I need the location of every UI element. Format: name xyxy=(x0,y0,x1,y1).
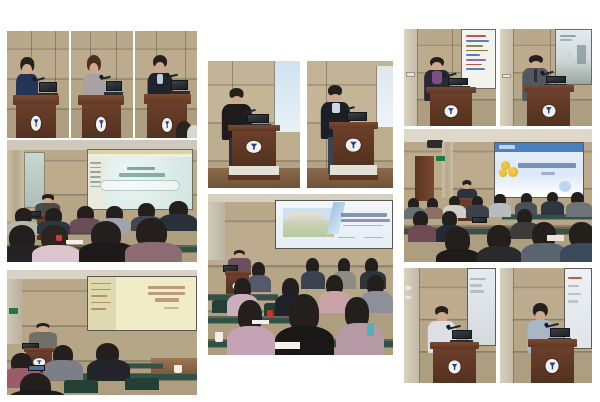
lectern xyxy=(528,339,578,383)
paper-cup xyxy=(215,332,222,342)
slide-presenter-line xyxy=(364,237,383,239)
photo-speaker-man-light-shirt[interactable] xyxy=(404,268,496,383)
side-wall xyxy=(500,268,513,383)
wall-panel xyxy=(405,286,411,289)
outline-line xyxy=(91,302,110,304)
wall-seam xyxy=(513,268,514,383)
slide-text-line xyxy=(560,39,573,41)
scarf xyxy=(432,71,442,85)
slide-yellow xyxy=(88,277,196,330)
audience-shoulders xyxy=(43,360,83,380)
sidebar-line xyxy=(90,176,101,178)
slide-text-line xyxy=(470,290,484,292)
photo-audience-hall-blue-slide[interactable] xyxy=(404,129,592,262)
lectern xyxy=(228,125,280,181)
projection-screen xyxy=(274,61,300,132)
slide-title-line xyxy=(148,292,185,295)
laptop-screen xyxy=(28,365,45,371)
drink-bottle xyxy=(56,235,62,241)
audience-shoulders-front xyxy=(436,249,481,262)
shirt-collar xyxy=(157,74,163,84)
page-search-pill xyxy=(100,180,179,191)
audience-shoulders-front xyxy=(275,326,334,355)
outline-line xyxy=(91,295,107,297)
slide-subtitle-line xyxy=(541,172,555,175)
audience-shoulders xyxy=(408,225,436,242)
photo-speaker-woman-dark-coat[interactable] xyxy=(7,31,69,138)
wall-seam xyxy=(419,268,420,383)
photo-speaker-man-collared-shirt-tall[interactable] xyxy=(307,61,393,188)
exit-sign xyxy=(436,156,445,161)
photo-speaker-man-grey-suit[interactable] xyxy=(500,29,592,126)
laptop xyxy=(39,82,56,96)
audience-shoulders xyxy=(489,203,512,216)
outline-line xyxy=(91,283,110,285)
wall-panel xyxy=(405,296,411,299)
yellow-circle xyxy=(499,169,507,177)
audience-shoulders xyxy=(87,359,131,382)
wall-seam xyxy=(417,29,418,126)
chair-back xyxy=(64,380,98,393)
outline-line xyxy=(91,308,106,310)
slide-blue xyxy=(495,143,583,197)
slide-image xyxy=(577,45,586,63)
drink-bottle xyxy=(367,323,374,336)
side-wall xyxy=(208,202,225,260)
slide-presenter-line xyxy=(164,307,179,309)
sidebar-line xyxy=(90,162,101,164)
slide-text-line xyxy=(466,45,483,47)
audience-shoulders xyxy=(301,271,325,289)
lectern-skirt xyxy=(228,175,280,181)
slide-title-line xyxy=(341,219,390,222)
slide-text-line xyxy=(466,59,486,61)
handout-paper xyxy=(252,320,269,325)
photo-speaker-woman-light-jacket[interactable] xyxy=(500,268,592,383)
audience-shoulders-front xyxy=(560,243,592,262)
laptop-screen xyxy=(171,80,188,90)
slide-title-line xyxy=(341,213,388,216)
photo-audience-hall-yellow-slide[interactable] xyxy=(7,270,197,395)
photo-speaker-man-dark-jacket[interactable] xyxy=(135,31,197,138)
yellow-circle xyxy=(508,167,519,177)
handout-paper xyxy=(547,235,564,240)
wall-switch-panel xyxy=(502,74,511,79)
drink-bottle xyxy=(267,310,273,318)
university-emblem xyxy=(542,104,555,116)
audience-shoulders xyxy=(566,202,592,217)
lectern xyxy=(430,342,480,383)
audience-shoulders xyxy=(541,201,564,216)
page-heading xyxy=(127,167,154,171)
paper-cup xyxy=(174,365,182,373)
lectern xyxy=(78,95,124,138)
university-emblem xyxy=(96,117,106,132)
laptop-screen xyxy=(472,217,487,224)
university-emblem xyxy=(162,118,172,132)
wall-switch-panel xyxy=(406,72,415,77)
slide-footer-line xyxy=(338,237,354,239)
foreground-audience-head xyxy=(187,125,197,138)
laptop-screen xyxy=(550,328,570,337)
slide-graphic-circle xyxy=(559,181,571,192)
lectern xyxy=(426,87,476,126)
page-subheading xyxy=(119,173,165,177)
exit-sign xyxy=(9,308,19,314)
slide-text-line xyxy=(466,68,485,70)
slide-title-line xyxy=(148,286,185,289)
slide-text-line xyxy=(560,35,576,37)
laptop xyxy=(106,81,123,95)
slide-text-line xyxy=(466,40,489,42)
wall-seam xyxy=(513,29,514,126)
slide-title-line xyxy=(518,163,576,168)
laptop-screen xyxy=(106,81,123,91)
necktie xyxy=(534,69,538,82)
laptop-screen xyxy=(39,82,56,92)
photo-speaker-woman-scarf[interactable] xyxy=(404,29,496,126)
slide-text-line xyxy=(568,285,578,287)
side-wall xyxy=(404,268,419,383)
chair-back xyxy=(125,378,159,391)
handout-paper xyxy=(275,342,301,348)
photo-speaker-man-black-sweater-tall[interactable] xyxy=(208,61,300,188)
slide-title-line xyxy=(155,298,179,301)
slide-text-line xyxy=(470,284,482,286)
university-emblem xyxy=(448,361,461,374)
slide-text-line xyxy=(568,300,577,302)
slide-outline-pane xyxy=(88,277,116,330)
slide-text-line xyxy=(466,54,480,56)
laptop-screen xyxy=(347,112,368,121)
window-curtain xyxy=(442,142,453,198)
audience-laptop xyxy=(28,365,45,374)
laptop xyxy=(171,80,188,94)
audience-shoulders-front xyxy=(227,326,275,355)
audience-shoulders-front xyxy=(477,246,522,262)
lectern xyxy=(13,95,59,138)
audience-shoulders-front xyxy=(32,245,81,262)
photo-audience-hall-campus-title-slide[interactable] xyxy=(208,194,393,355)
lectern-skirt xyxy=(329,175,377,181)
lectern xyxy=(329,122,377,180)
audience-shoulders-front xyxy=(9,390,66,395)
slide-number xyxy=(567,51,571,63)
laptop-screen xyxy=(448,78,468,86)
laptop-screen xyxy=(247,114,269,123)
photo-audience-hall-browser-slide[interactable] xyxy=(7,140,197,262)
laptop-screen xyxy=(452,330,472,339)
projection-screen xyxy=(376,66,393,127)
slide-campus-title xyxy=(276,201,392,247)
projection-screen xyxy=(494,142,584,198)
handout-paper xyxy=(66,240,83,244)
lectern xyxy=(524,85,574,126)
projection-screen xyxy=(87,276,197,331)
photo-speaker-woman-grey-sweater[interactable] xyxy=(71,31,133,138)
photo-collage xyxy=(0,0,600,402)
university-emblem xyxy=(31,116,41,131)
slide-logo-box xyxy=(499,145,515,148)
laptop-screen xyxy=(546,76,566,84)
shirt-collar xyxy=(332,103,340,113)
slide-text-line xyxy=(568,277,582,279)
slide-text-line xyxy=(466,35,486,37)
hall-door xyxy=(415,156,434,201)
projection-screen xyxy=(275,200,393,248)
audience-laptop xyxy=(472,217,487,226)
slide-text-line xyxy=(568,293,580,295)
audience-shoulders-front xyxy=(336,323,384,355)
university-emblem xyxy=(546,359,559,373)
side-wall xyxy=(404,29,417,126)
slide-browser xyxy=(88,150,192,209)
sidebar-line xyxy=(90,171,101,173)
audience-shoulders-front xyxy=(125,242,182,262)
university-emblem xyxy=(444,105,457,117)
slide-subtitle-line xyxy=(343,225,383,227)
